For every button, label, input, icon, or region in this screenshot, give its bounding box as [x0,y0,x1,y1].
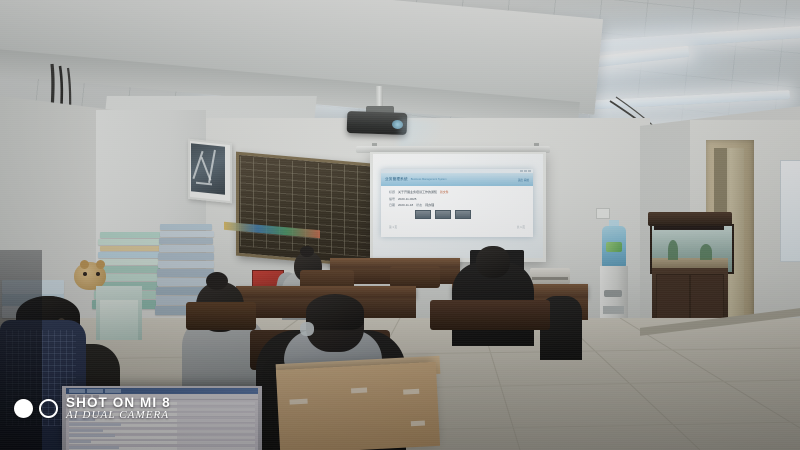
projected-field-value: 2020-11-0025 [398,197,416,201]
bulletin-board-text-grid [240,156,372,258]
projected-page-number: 第 1 页 [389,225,397,229]
aquarium-plant [668,240,678,260]
projected-form-row: 日期 2020-11-18 状态 待办理 [389,203,525,207]
plush-toy-eye [83,272,87,276]
projected-field-value: 待办理 [425,203,434,207]
window-minimize-icon [520,170,523,172]
projected-back-button[interactable] [455,210,471,219]
projected-field-value: 关于开展业务培训工作的通知 [398,190,437,194]
cardboard-box [276,362,440,450]
spreadsheet-tab[interactable] [105,389,121,393]
projected-field-label: 编号 [389,197,395,201]
projected-page-footer: 第 1 页 共 1 页 [381,223,533,231]
printer[interactable] [530,268,570,284]
projected-save-button[interactable] [435,210,451,219]
projected-field-tag: 新文件 [440,190,448,194]
camera-dot-filled-icon [14,399,33,418]
projected-page-title: 业务管理系统 [385,177,408,182]
projected-field-value: 2020-11-18 [398,203,413,207]
face-mask [300,322,314,336]
camera-dot-ring-icon [39,399,58,418]
photo-scene: 业务管理系统 Business Management System 退出 系统 … [0,0,800,450]
projected-button-row [415,210,525,219]
spreadsheet-row [69,436,255,440]
projected-form-row: 编号 2020-11-0025 [389,197,525,201]
water-cooler-tap[interactable] [604,290,622,297]
projected-page-header: 业务管理系统 Business Management System 退出 系统 [381,173,533,186]
projected-field-label: 标题 [389,190,395,194]
wall-notice-poster [780,160,800,262]
window-close-icon [528,170,531,172]
projected-page-total: 共 1 页 [517,225,525,229]
plush-toy-ear [80,260,89,269]
chair-back [390,266,440,288]
aquarium-gravel [652,258,728,268]
aquarium-light-strip [654,226,724,230]
watermark-line-1: SHOT ON MI 8 [66,396,171,410]
projected-query-button[interactable] [415,210,431,219]
projected-field-label: 日期 [389,203,395,207]
water-cooler-drip-tray [603,306,624,314]
aquarium-plant [700,244,712,260]
wall-power-outlet[interactable] [596,208,610,219]
projector-mount-pole [376,86,383,108]
person-hair-bun [300,246,314,257]
plush-toy-ear [96,260,105,269]
person-hair [306,294,364,330]
framed-poster-art [191,143,225,195]
water-bottle-label [606,242,622,252]
watermark-text: SHOT ON MI 8 AI DUAL CAMERA [66,396,171,422]
plush-toy-eye [96,272,100,276]
spreadsheet-row [69,424,255,428]
projected-field-label: 状态 [416,203,422,207]
projected-page-subtitle: Business Management System [411,178,447,181]
spreadsheet-tab[interactable] [87,389,103,393]
projected-page-header-right: 退出 系统 [518,178,529,182]
spreadsheet-tab[interactable] [69,389,85,393]
storage-bin [100,300,138,340]
projected-page-body: 标题 关于开展业务培训工作的通知 新文件 编号 2020-11-0025 日期 … [381,186,533,223]
camera-watermark: SHOT ON MI 8 AI DUAL CAMERA [14,396,171,422]
watermark-lens-icons [14,399,58,418]
printer-paper-slot [532,277,568,280]
projected-web-page: 业务管理系统 Business Management System 退出 系统 … [381,169,533,237]
window-maximize-icon [524,170,527,172]
chair-back [430,300,550,330]
person-hair-bun [206,272,228,290]
chair-back [186,302,256,330]
projected-form-row: 标题 关于开展业务培训工作的通知 新文件 [389,190,525,194]
spreadsheet-row [69,441,255,445]
watermark-line-2: AI DUAL CAMERA [66,410,171,422]
person-head [476,246,510,278]
